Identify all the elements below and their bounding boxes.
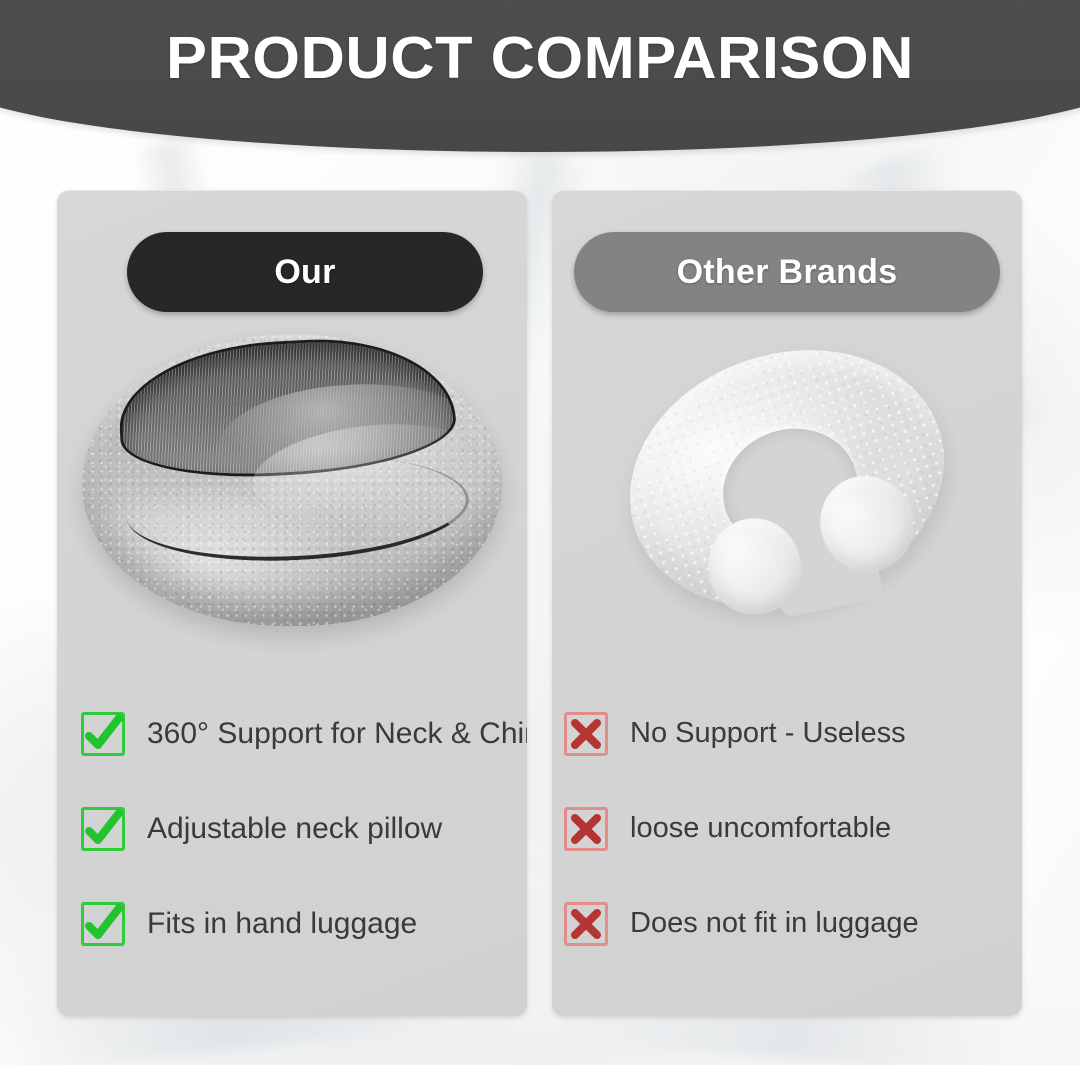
comparison-card-others: Other Brands bbox=[552, 190, 1022, 1016]
feature-label: Does not fit in luggage bbox=[630, 908, 919, 940]
product-image-others bbox=[552, 320, 1022, 660]
check-icon bbox=[81, 807, 125, 851]
badge-other-brands-label: Other Brands bbox=[677, 253, 898, 292]
feature-label: loose uncomfortable bbox=[630, 813, 891, 845]
feature-row: 360° Support for Neck & Chin bbox=[57, 686, 527, 781]
feature-row: Fits in hand luggage bbox=[57, 876, 527, 971]
feature-label: 360° Support for Neck & Chin bbox=[147, 717, 527, 750]
feature-row: loose uncomfortable bbox=[552, 781, 1022, 876]
product-comparison-infographic: PRODUCT COMPARISON Our bbox=[0, 0, 1080, 1065]
comparison-columns: Our bbox=[57, 190, 1022, 1016]
feature-list-ours: 360° Support for Neck & Chin Adjustable … bbox=[57, 686, 527, 971]
feature-row: Adjustable neck pillow bbox=[57, 781, 527, 876]
comparison-card-ours: Our bbox=[57, 190, 527, 1016]
badge-other-brands: Other Brands bbox=[574, 232, 1000, 312]
check-icon bbox=[81, 712, 125, 756]
check-icon-glyph bbox=[80, 711, 126, 757]
product-image-ours bbox=[57, 320, 527, 660]
feature-label: No Support - Useless bbox=[630, 718, 906, 750]
check-icon-glyph bbox=[80, 806, 126, 852]
cross-icon bbox=[564, 807, 608, 851]
feature-row: Does not fit in luggage bbox=[552, 876, 1022, 971]
check-icon bbox=[81, 902, 125, 946]
cross-icon-glyph bbox=[563, 806, 609, 852]
feature-label: Fits in hand luggage bbox=[147, 907, 417, 940]
page-title: PRODUCT COMPARISON bbox=[0, 24, 1080, 92]
u-shaped-travel-pillow-illustration bbox=[596, 311, 978, 648]
feature-row: No Support - Useless bbox=[552, 686, 1022, 781]
donut-neck-pillow-illustration bbox=[82, 334, 502, 626]
check-icon-glyph bbox=[80, 901, 126, 947]
cross-icon-glyph bbox=[563, 901, 609, 947]
cross-icon bbox=[564, 712, 608, 756]
cross-icon bbox=[564, 902, 608, 946]
badge-ours-label: Our bbox=[274, 253, 335, 292]
badge-ours: Our bbox=[127, 232, 483, 312]
feature-list-others: No Support - Useless loose uncomfortable bbox=[552, 686, 1022, 971]
feature-label: Adjustable neck pillow bbox=[147, 812, 442, 845]
header-banner: PRODUCT COMPARISON bbox=[0, 0, 1080, 152]
cross-icon-glyph bbox=[563, 711, 609, 757]
